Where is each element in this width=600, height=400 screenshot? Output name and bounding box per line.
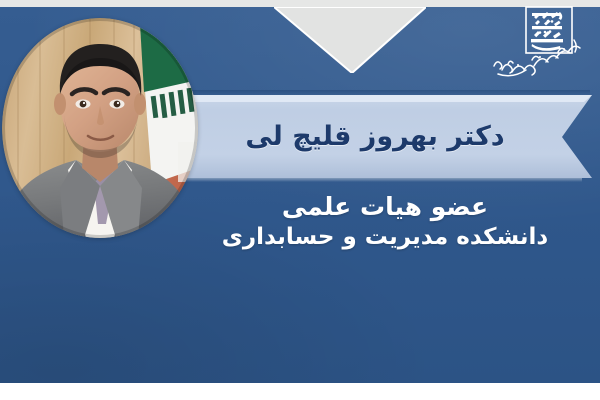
footer-band: [0, 383, 600, 400]
faculty-name-label: دکتر بهروز قلیچ لی: [186, 96, 568, 176]
profile-card: دکتر بهروز قلیچ لی: [0, 0, 600, 400]
faculty-text: دانشکده مدیریت و حسابداری: [190, 223, 580, 252]
faculty-member-portrait: [2, 18, 198, 238]
chevron-notch-decoration: [274, 7, 426, 73]
subtitle-block: عضو هیات علمی دانشکده مدیریت و حسابداری: [190, 192, 580, 252]
faculty-name-text: دکتر بهروز قلیچ لی: [245, 123, 504, 150]
role-text: عضو هیات علمی: [190, 192, 580, 223]
shahid-beheshti-university-logo: [488, 4, 592, 82]
